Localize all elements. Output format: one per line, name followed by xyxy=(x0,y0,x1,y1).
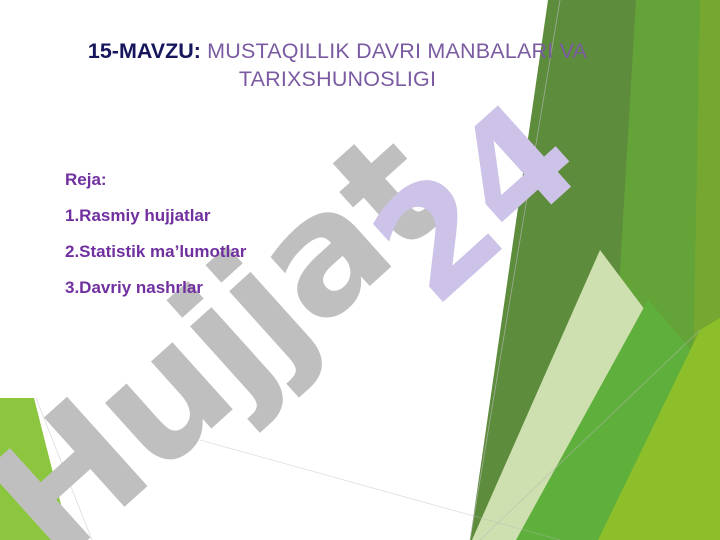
hairline-diagonal-lower xyxy=(480,330,700,540)
body-heading-reja: Reja: xyxy=(65,162,485,198)
shape-leaf-green-wedge xyxy=(516,300,700,540)
shape-pale-green-wedge xyxy=(472,250,660,540)
shape-yellow-green-bottom-right xyxy=(598,318,720,540)
title-prefix: 15-MAVZU: xyxy=(88,39,201,63)
list-item-2: 2.Statistik ma’lumotlar xyxy=(65,234,485,270)
hairline-corner-bottom-left xyxy=(36,398,92,540)
shape-corner-green-bottom-left xyxy=(0,398,70,540)
list-item-3: 3.Davriy nashrlar xyxy=(65,270,485,306)
slide-title: 15-MAVZU: MUSTAQILLIK DAVRI MANBALARI VA… xyxy=(40,38,635,93)
slide-body: Reja: 1.Rasmiy hujjatlar 2.Statistik ma’… xyxy=(65,162,485,306)
title-rest: MUSTAQILLIK DAVRI MANBALARI VA TARIXSHUN… xyxy=(201,39,587,91)
slide-canvas: Hujjat 24 15-MAVZU: MUSTAQILLIK DAVRI MA… xyxy=(0,0,720,540)
list-item-1: 1.Rasmiy hujjatlar xyxy=(65,198,485,234)
hairline-diagonal-bottom-left xyxy=(200,440,560,540)
